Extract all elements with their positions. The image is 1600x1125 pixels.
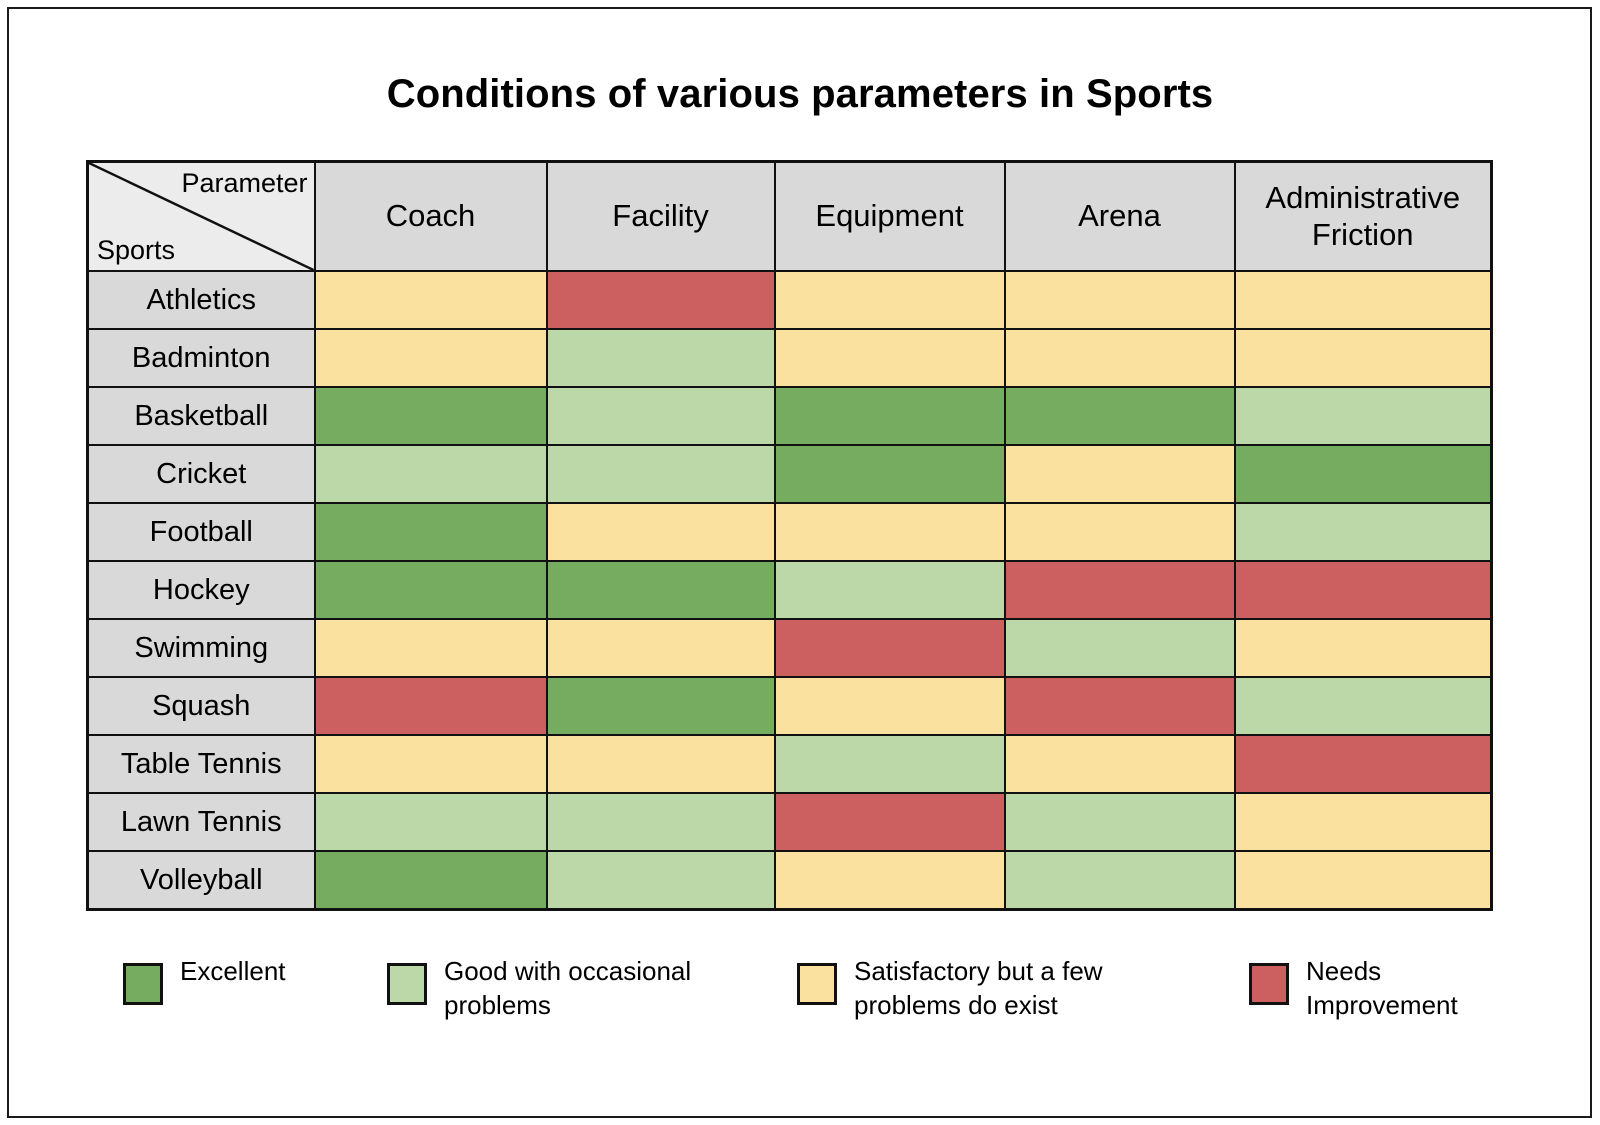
matrix-cell [315,503,547,561]
matrix-cell [1235,329,1492,387]
row-header-volleyball: Volleyball [88,851,315,910]
row-header-badminton: Badminton [88,329,315,387]
table-row: Lawn Tennis [88,793,1492,851]
matrix-cell [547,503,775,561]
table-row: Cricket [88,445,1492,503]
row-header-cricket: Cricket [88,445,315,503]
legend-label-satisfactory: Satisfactory but a few problems do exist [854,955,1103,1023]
condition-matrix-table: Parameter Sports Coach Facility Equipmen… [86,160,1493,911]
legend-swatch-good [387,963,427,1005]
matrix-cell [1235,503,1492,561]
legend-swatch-needs-improvement [1249,963,1289,1005]
legend-item-good: Good with occasional problems [387,955,691,1023]
matrix-cell [315,445,547,503]
legend-swatch-satisfactory [797,963,837,1005]
column-header-facility: Facility [547,162,775,272]
figure-canvas: Conditions of various parameters in Spor… [0,0,1600,1125]
matrix-cell [1005,329,1235,387]
matrix-cell [1005,851,1235,910]
matrix-cell [547,387,775,445]
matrix-cell [1235,271,1492,329]
matrix-header: Parameter Sports Coach Facility Equipmen… [88,162,1492,272]
row-axis-label: Sports [97,236,175,264]
matrix-cell [775,793,1005,851]
matrix-cell [547,329,775,387]
matrix-cell [547,851,775,910]
row-header-hockey: Hockey [88,561,315,619]
matrix-cell [1235,735,1492,793]
matrix-cell [547,619,775,677]
matrix-cell [315,793,547,851]
table-row: Athletics [88,271,1492,329]
matrix-cell [1235,619,1492,677]
matrix-cell [775,445,1005,503]
matrix-cell [315,619,547,677]
matrix-cell [547,445,775,503]
matrix-cell [1005,677,1235,735]
legend-item-needs-improvement: Needs Improvement [1249,955,1458,1023]
matrix-cell [315,271,547,329]
table-row: Swimming [88,619,1492,677]
matrix-cell [1005,793,1235,851]
legend-swatch-excellent [123,963,163,1005]
matrix-cell [1235,851,1492,910]
matrix-cell [1235,561,1492,619]
row-header-basketball: Basketball [88,387,315,445]
matrix-cell [775,503,1005,561]
matrix-cell [1235,445,1492,503]
matrix-cell [547,793,775,851]
matrix-cell [775,387,1005,445]
matrix-cell [315,735,547,793]
page-title: Conditions of various parameters in Spor… [0,72,1600,117]
matrix-cell [547,561,775,619]
matrix-header-row: Parameter Sports Coach Facility Equipmen… [88,162,1492,272]
row-header-football: Football [88,503,315,561]
matrix-cell [1235,677,1492,735]
matrix-body: AthleticsBadmintonBasketballCricketFootb… [88,271,1492,910]
matrix-cell [775,619,1005,677]
matrix-cell [775,329,1005,387]
table-row: Basketball [88,387,1492,445]
matrix-cell [315,677,547,735]
matrix-cell [775,677,1005,735]
table-row: Table Tennis [88,735,1492,793]
matrix-cell [547,677,775,735]
matrix-cell [1005,503,1235,561]
column-header-administrative-friction: Administrative Friction [1235,162,1492,272]
legend-label-good: Good with occasional problems [444,955,691,1023]
legend-item-excellent: Excellent [123,955,286,1005]
matrix-cell [315,329,547,387]
row-header-lawn-tennis: Lawn Tennis [88,793,315,851]
matrix-cell [775,851,1005,910]
row-header-squash: Squash [88,677,315,735]
matrix-cell [1235,793,1492,851]
table-row: Badminton [88,329,1492,387]
matrix-cell [1235,387,1492,445]
legend: Excellent Good with occasional problems … [86,955,1506,1065]
matrix-cell [1005,619,1235,677]
column-axis-label: Parameter [181,169,307,197]
matrix-corner-cell: Parameter Sports [88,162,315,272]
column-header-arena: Arena [1005,162,1235,272]
matrix-cell [315,387,547,445]
condition-matrix-container: Parameter Sports Coach Facility Equipmen… [86,160,1490,911]
row-header-swimming: Swimming [88,619,315,677]
matrix-cell [775,271,1005,329]
row-header-table-tennis: Table Tennis [88,735,315,793]
table-row: Hockey [88,561,1492,619]
table-row: Volleyball [88,851,1492,910]
table-row: Squash [88,677,1492,735]
matrix-cell [315,851,547,910]
legend-label-needs-improvement: Needs Improvement [1306,955,1458,1023]
matrix-cell [547,735,775,793]
matrix-cell [315,561,547,619]
row-header-athletics: Athletics [88,271,315,329]
matrix-cell [775,735,1005,793]
matrix-cell [547,271,775,329]
legend-label-excellent: Excellent [180,955,286,989]
column-header-equipment: Equipment [775,162,1005,272]
matrix-cell [775,561,1005,619]
matrix-cell [1005,387,1235,445]
matrix-cell [1005,271,1235,329]
legend-item-satisfactory: Satisfactory but a few problems do exist [797,955,1103,1023]
column-header-coach: Coach [315,162,547,272]
table-row: Football [88,503,1492,561]
matrix-cell [1005,445,1235,503]
matrix-cell [1005,735,1235,793]
matrix-cell [1005,561,1235,619]
